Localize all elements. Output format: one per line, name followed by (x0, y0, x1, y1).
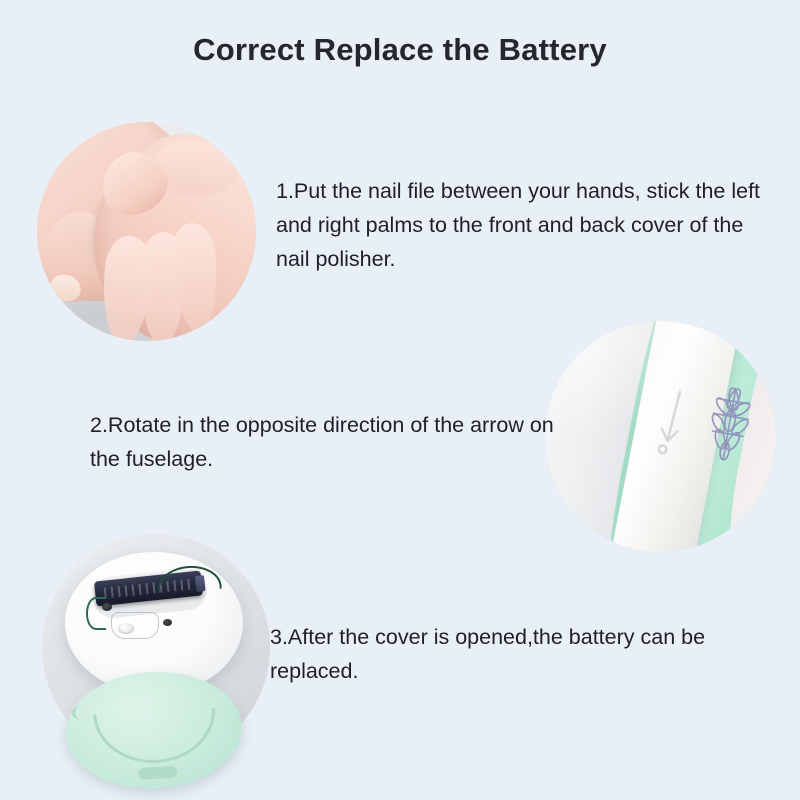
cover-notch (72, 705, 93, 720)
instruction-graphic: Correct Replace the Battery 1.Put the na… (0, 0, 800, 800)
screw-1 (102, 603, 112, 611)
opened-battery-compartment-photo (42, 534, 270, 762)
step-3-text: 3.After the cover is opened,the battery … (270, 620, 760, 688)
fuselage-arrow-closeup-photo (545, 321, 776, 552)
cover-tab (138, 766, 177, 780)
photo-gloss-highlight (545, 321, 684, 437)
cover-ridge (93, 708, 218, 766)
screw-2 (163, 619, 173, 627)
contact-wire (156, 564, 222, 593)
hands-holding-nail-polisher-photo (37, 122, 256, 341)
battery-spring-contact (86, 597, 106, 629)
page-title: Correct Replace the Battery (0, 32, 800, 68)
step-2-text: 2.Rotate in the opposite direction of th… (90, 408, 560, 476)
step-1-text: 1.Put the nail file between your hands, … (276, 174, 776, 276)
